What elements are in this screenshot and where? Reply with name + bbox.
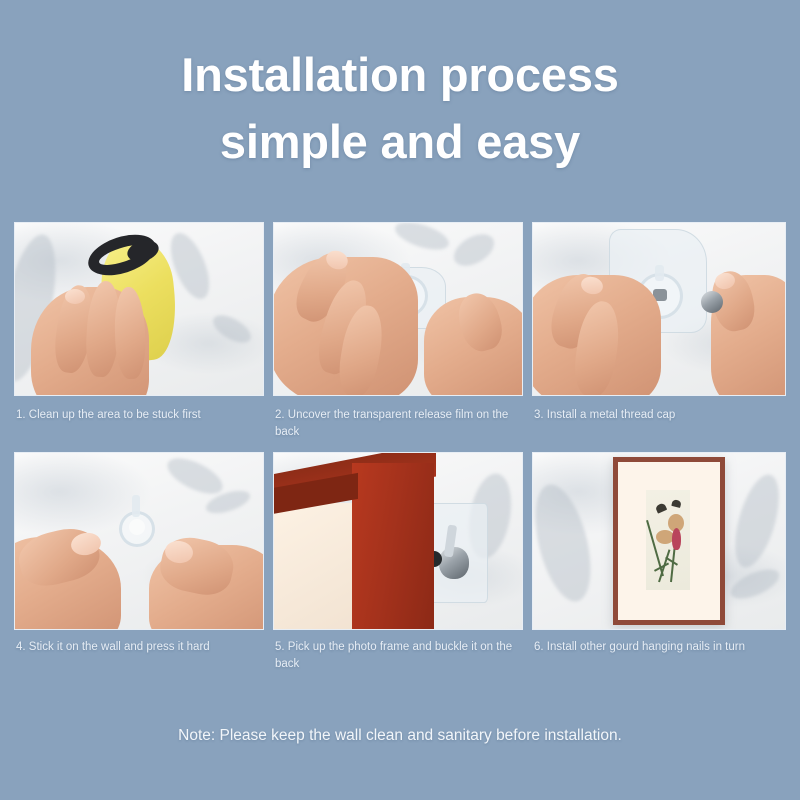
step-item-1: 1. Clean up the area to be stuck first <box>14 222 264 452</box>
hanging-photo-frame <box>613 457 725 625</box>
step-caption-2: 2. Uncover the transparent release film … <box>273 396 523 452</box>
step-item-5: 5. Pick up the photo frame and buckle it… <box>273 452 523 686</box>
step-caption-5: 5. Pick up the photo frame and buckle it… <box>273 630 523 686</box>
step-photo-3 <box>532 222 786 396</box>
step-photo-6 <box>532 452 786 630</box>
step-photo-4 <box>14 452 264 630</box>
step-item-4: 4. Stick it on the wall and press it har… <box>14 452 264 686</box>
step-photo-2 <box>273 222 523 396</box>
step-photo-1 <box>14 222 264 396</box>
hook-center-cap <box>129 519 145 535</box>
step-item-6: 6. Install other gourd hanging nails in … <box>532 452 786 686</box>
step-caption-1: 1. Clean up the area to be stuck first <box>14 396 264 452</box>
step-item-2: 2. Uncover the transparent release film … <box>273 222 523 452</box>
clear-hook-stem <box>132 495 140 517</box>
page-title: Installation process simple and easy <box>0 42 800 175</box>
artwork-canvas <box>646 490 690 590</box>
footer-note: Note: Please keep the wall clean and san… <box>0 727 800 745</box>
clear-hook-stem <box>655 265 664 281</box>
metal-thread-cap <box>701 291 723 313</box>
step-item-3: 3. Install a metal thread cap <box>532 222 786 452</box>
step-caption-6: 6. Install other gourd hanging nails in … <box>532 630 786 686</box>
title-line-2: simple and easy <box>0 109 800 176</box>
photo-frame-mat <box>273 503 352 630</box>
installation-steps-grid: 1. Clean up the area to be stuck first 2… <box>14 222 786 686</box>
photo-frame-side-edge <box>352 463 434 630</box>
title-line-1: Installation process <box>0 42 800 109</box>
step-caption-4: 4. Stick it on the wall and press it har… <box>14 630 264 686</box>
step-photo-5 <box>273 452 523 630</box>
step-caption-3: 3. Install a metal thread cap <box>532 396 786 452</box>
